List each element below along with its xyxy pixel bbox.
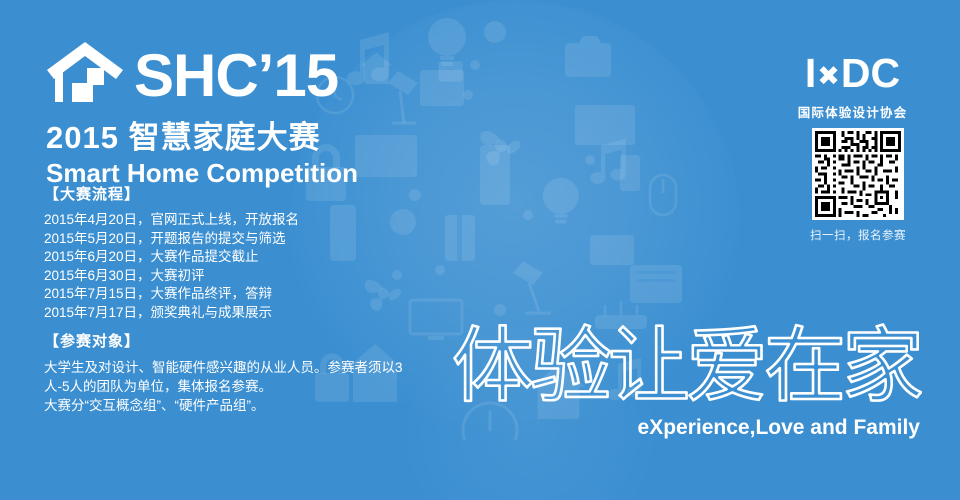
dot-icon (484, 21, 506, 43)
dot-icon (392, 270, 402, 280)
dot-icon (390, 209, 416, 235)
qr-caption: 扫一扫，报名参赛 (806, 227, 910, 243)
ixdc-letter-i: I (805, 52, 816, 94)
mouse-icon (650, 175, 676, 215)
schedule-item: 2015年7月17日，颁奖典礼与成果展示 (44, 304, 374, 323)
dot-icon (470, 60, 480, 70)
schedule-item: 2015年7月15日，大赛作品终评，答辩 (44, 285, 374, 304)
dot-icon (585, 155, 595, 165)
lightbulb-icon (428, 18, 466, 66)
audience-block: 【参赛对象】 大学生及对设计、智能硬件感兴趣的从业人员。参赛者须以3人-5人的团… (44, 330, 419, 415)
refrigerator-icon (480, 145, 510, 205)
brand-block: SHC’15 2015 智慧家庭大赛 Smart Home Competitio… (46, 34, 376, 189)
ixdc-x-icon: ✖ (816, 55, 841, 97)
dot-icon (494, 304, 506, 316)
audience-paragraph: 大学生及对设计、智能硬件感兴趣的从业人员。参赛者须以3人-5人的团队为单位，集体… (44, 358, 419, 396)
desk-lamp-icon (388, 71, 418, 123)
schedule-item: 2015年4月20日，官网正式上线，开放报名 (44, 211, 374, 230)
qr-code-icon[interactable] (812, 128, 904, 220)
fan-icon (480, 131, 520, 166)
audience-body: 大学生及对设计、智能硬件感兴趣的从业人员。参赛者须以3人-5人的团队为单位，集体… (44, 358, 419, 415)
house-icon (46, 38, 124, 104)
title-cn: 2015 智慧家庭大赛 (46, 112, 376, 157)
dot-icon (463, 90, 473, 100)
ixdc-name-cn: 国际体验设计协会 (780, 102, 925, 121)
washing-machine-icon (420, 70, 464, 106)
monitor-icon (575, 105, 635, 145)
ixdc-logo: I ✖ DC 国际体验设计协会 (780, 52, 925, 121)
wordmark: SHC’15 (134, 46, 338, 106)
speaker-icon (445, 215, 475, 261)
poster-canvas: SHC’15 2015 智慧家庭大赛 Smart Home Competitio… (0, 0, 960, 500)
lightbulb-icon (543, 178, 579, 224)
music-note-icon (590, 139, 626, 184)
phone-icon (620, 155, 640, 191)
dot-icon (435, 265, 445, 275)
monitor-icon (590, 235, 634, 265)
desk-lamp-icon (513, 261, 551, 313)
camera-icon (565, 36, 611, 77)
audience-paragraph: 大赛分“交互概念组”、“硬件产品组”。 (44, 396, 419, 415)
ixdc-wordmark: I ✖ DC (780, 52, 925, 99)
lock-icon (439, 61, 463, 81)
slogan-cn: 体验让爱在家 (452, 318, 922, 418)
svg-text:体验让爱在家: 体验让爱在家 (452, 319, 922, 414)
schedule-item: 2015年6月20日，大赛作品提交截止 (44, 248, 374, 267)
slogan-en: eXperience,Love and Family (452, 416, 922, 440)
book-icon (630, 265, 682, 303)
dot-icon (409, 189, 421, 201)
schedule-item: 2015年5月20日，开题报告的提交与筛选 (44, 230, 374, 249)
logo-row: SHC’15 (46, 34, 376, 106)
dot-icon (523, 210, 533, 220)
slogan-block: 体验让爱在家 eXperience,Love and Family (452, 318, 922, 440)
audience-heading: 【参赛对象】 (44, 330, 419, 351)
ixdc-letters-dc: DC (841, 52, 900, 94)
schedule-heading: 【大赛流程】 (44, 183, 374, 204)
schedule-item: 2015年6月30日，大赛初评 (44, 267, 374, 286)
schedule-block: 【大赛流程】 2015年4月20日，官网正式上线，开放报名 2015年5月20日… (44, 183, 374, 322)
qr-block: 扫一扫，报名参赛 (806, 128, 910, 243)
